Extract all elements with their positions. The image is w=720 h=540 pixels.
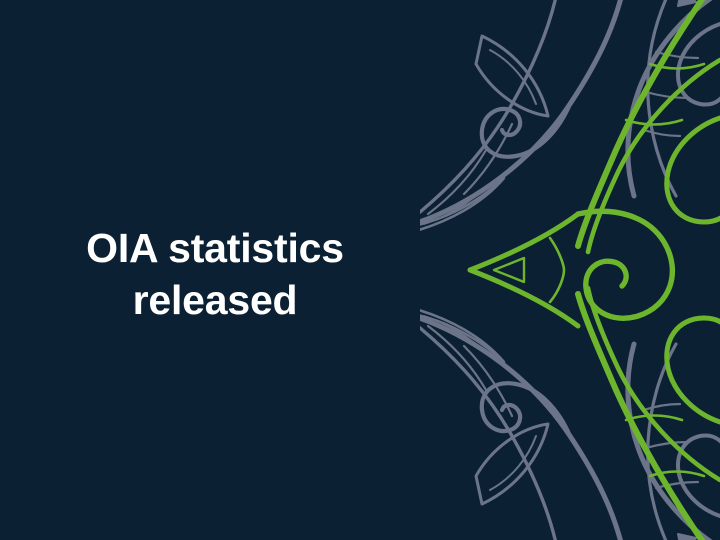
green-koru-group — [470, 0, 720, 540]
kowhaiwhai-koru-pattern — [420, 0, 720, 540]
page-title: OIA statistics released — [86, 222, 344, 327]
grey-koru-upper — [420, 0, 720, 232]
title-block: OIA statistics released — [0, 0, 430, 540]
grey-koru-lower — [420, 308, 720, 540]
presentation-slide: OIA statistics released — [0, 0, 720, 540]
